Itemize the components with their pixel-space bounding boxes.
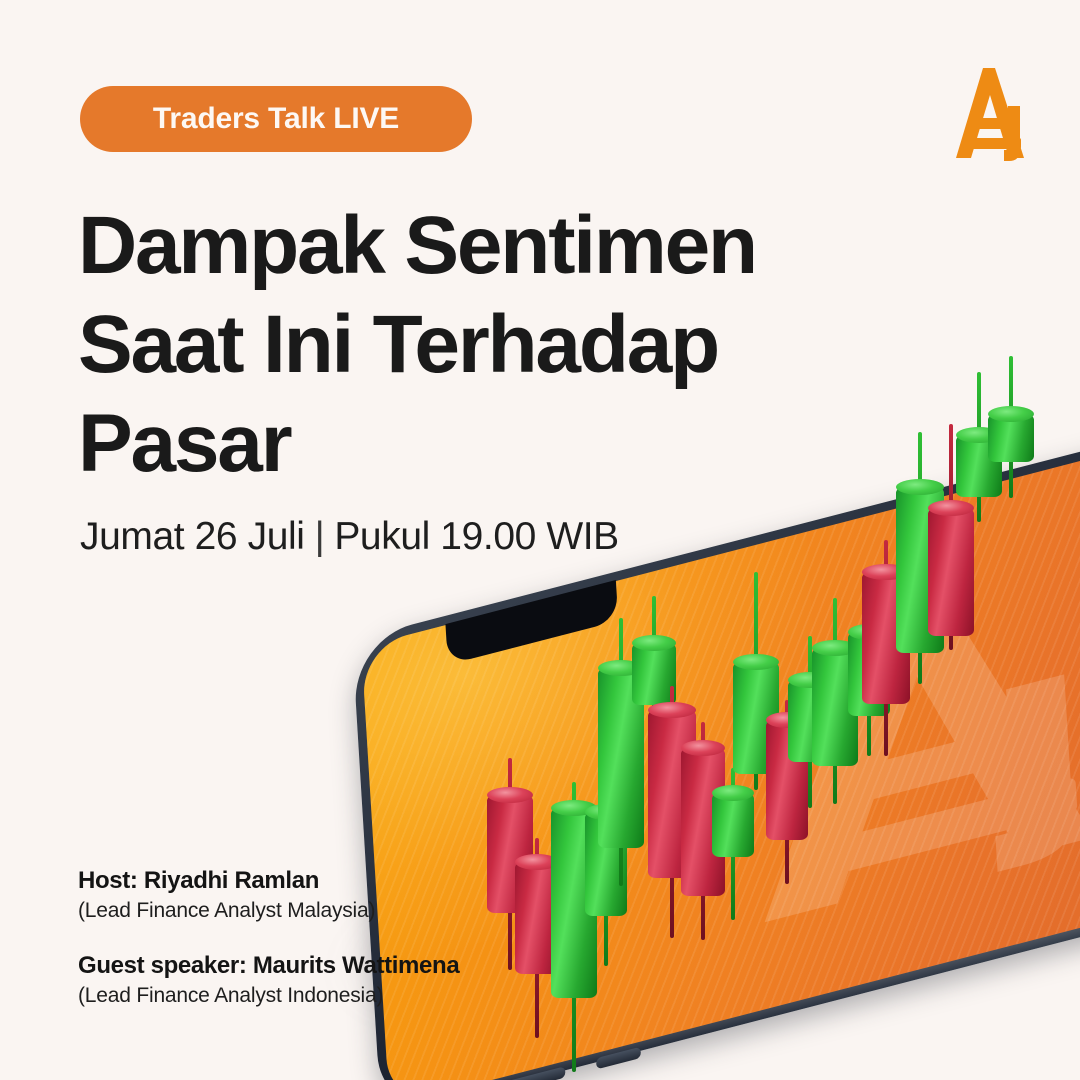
candlestick-red: [487, 758, 533, 970]
candle-body: [648, 710, 696, 878]
candle-body: [632, 643, 676, 705]
candlestick-green: [598, 618, 644, 886]
candle-body: [848, 632, 890, 716]
candlestick-green: [848, 588, 890, 756]
candle-body: [812, 648, 858, 766]
candlestick-red: [681, 722, 725, 940]
candle-wick: [701, 722, 705, 940]
candle-top-cap: [896, 479, 944, 495]
candle-top-cap: [848, 624, 890, 640]
candle-top-cap: [788, 672, 832, 688]
candle-body: [928, 508, 974, 636]
candle-wick: [652, 596, 656, 746]
candle-wick: [918, 432, 922, 684]
candle-wick: [731, 768, 735, 920]
phone-notch: [445, 580, 618, 665]
candlestick-red: [648, 686, 696, 938]
schedule-separator: |: [315, 515, 325, 559]
candle-wick: [670, 686, 674, 938]
candle-wick: [833, 598, 837, 804]
candle-wick: [1009, 356, 1013, 498]
candlestick-red: [515, 838, 559, 1038]
candle-top-cap: [988, 406, 1034, 422]
credit-role: (Lead Finance Analyst Malaysia): [78, 896, 459, 925]
candle-wick: [508, 758, 512, 970]
candle-wick: [884, 540, 888, 756]
candle-top-cap: [681, 740, 725, 756]
credits-block: Host: Riyadhi Ramlan (Lead Finance Analy…: [78, 866, 459, 1010]
candlestick-green: [585, 778, 627, 966]
candle-wick: [977, 372, 981, 522]
brand-logo: [946, 62, 1032, 166]
candle-wick: [949, 424, 953, 650]
phone-side-button: [489, 1066, 565, 1080]
candle-wick: [535, 838, 539, 1038]
credit-role: (Lead Finance Analyst Indonesia): [78, 981, 459, 1010]
candlestick-green: [956, 372, 1002, 522]
candle-top-cap: [712, 785, 754, 801]
candle-body: [733, 662, 779, 774]
candle-top-cap: [632, 635, 676, 651]
candle-wick: [572, 782, 576, 1072]
phone-side-button-secondary: [596, 1047, 641, 1070]
candle-body: [862, 572, 910, 704]
credit-item: Host: Riyadhi Ramlan (Lead Finance Analy…: [78, 866, 459, 925]
schedule-line: Jumat 26 Juli|Pukul 19.00 WIB: [80, 515, 619, 559]
candle-top-cap: [928, 500, 974, 516]
candlestick-green: [733, 572, 779, 790]
candle-top-cap: [862, 564, 910, 580]
candle-body: [487, 795, 533, 913]
candle-top-cap: [551, 800, 597, 816]
candlestick-green: [812, 598, 858, 804]
candle-body: [681, 748, 725, 896]
candle-top-cap: [598, 660, 644, 676]
page-title: Dampak Sentimen Saat Ini Terhadap Pasar: [78, 196, 838, 493]
credit-item: Guest speaker: Maurits Wattimena (Lead F…: [78, 951, 459, 1010]
candle-wick: [619, 618, 623, 886]
candlestick-green: [896, 432, 944, 684]
poster-canvas: Traders Talk LIVE Dampak Sentimen Saat I…: [0, 0, 1080, 1080]
candle-wick: [808, 636, 812, 808]
candle-wick: [785, 700, 789, 884]
candlestick-green: [551, 782, 597, 1072]
candle-body: [551, 808, 597, 998]
schedule-time: Pukul 19.00 WIB: [334, 515, 618, 558]
candle-wick: [867, 588, 871, 756]
candle-body: [515, 862, 559, 974]
candle-top-cap: [648, 702, 696, 718]
candlestick-green: [632, 596, 676, 746]
live-badge: Traders Talk LIVE: [80, 86, 472, 152]
candlestick-red: [862, 540, 910, 756]
candle-top-cap: [733, 654, 779, 670]
candle-wick: [754, 572, 758, 790]
candle-top-cap: [487, 787, 533, 803]
candlestick-green: [788, 636, 832, 808]
candlestick-green: [712, 768, 754, 920]
credit-name: Guest speaker: Maurits Wattimena: [78, 951, 459, 981]
candle-body: [585, 812, 627, 916]
candle-top-cap: [515, 854, 559, 870]
screen-watermark-a-icon: [697, 518, 1080, 961]
schedule-date: Jumat 26 Juli: [80, 515, 305, 558]
candle-body: [788, 680, 832, 762]
candle-top-cap: [956, 427, 1002, 443]
candle-top-cap: [585, 804, 627, 820]
candlestick-red: [766, 700, 808, 884]
credit-name: Host: Riyadhi Ramlan: [78, 866, 459, 896]
candle-wick: [604, 778, 608, 966]
candle-body: [896, 487, 944, 653]
candle-top-cap: [766, 712, 808, 728]
candle-body: [956, 435, 1002, 497]
candle-body: [988, 414, 1034, 462]
candle-body: [712, 793, 754, 857]
candle-top-cap: [812, 640, 858, 656]
candle-body: [766, 720, 808, 840]
candlestick-green: [988, 356, 1034, 498]
candlestick-red: [928, 424, 974, 650]
candle-body: [598, 668, 644, 848]
